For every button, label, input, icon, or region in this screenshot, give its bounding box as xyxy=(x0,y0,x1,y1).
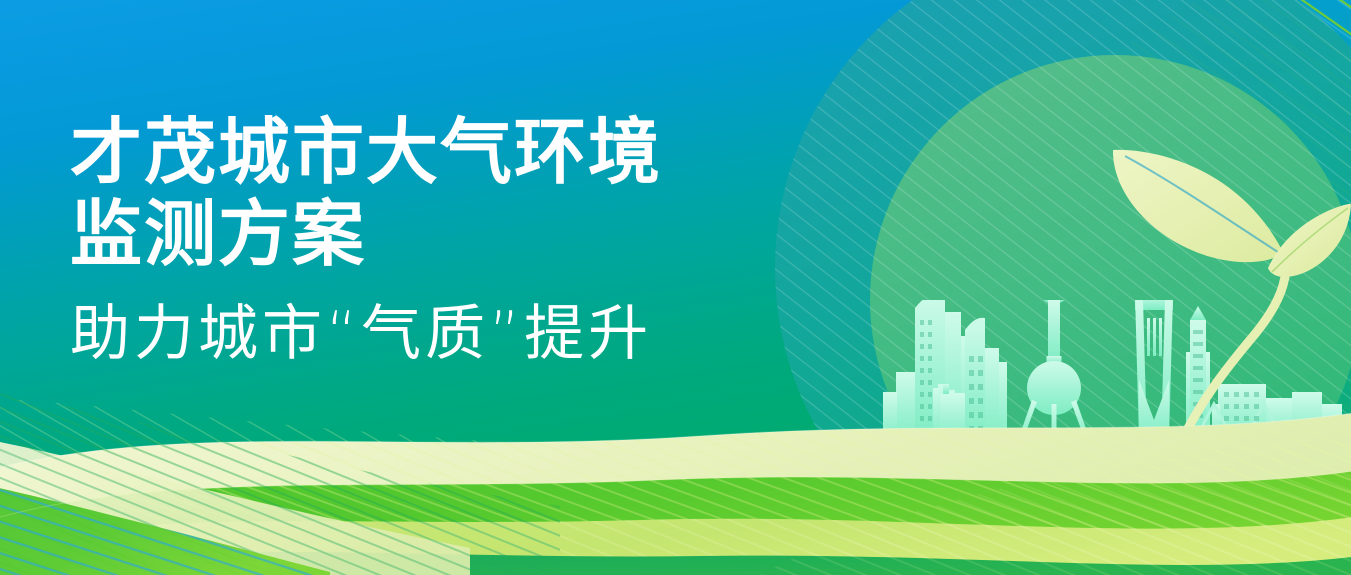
title-line-1: 才茂城市大气环境 xyxy=(70,112,662,194)
air-quality-banner: 才茂城市大气环境 监测方案 助力城市“气质”提升 xyxy=(0,0,1351,575)
headline-block: 才茂城市大气环境 监测方案 助力城市“气质”提升 xyxy=(70,112,662,370)
title-line-2: 监测方案 xyxy=(70,194,662,276)
banner-subtitle: 助力城市“气质”提升 xyxy=(70,298,662,370)
